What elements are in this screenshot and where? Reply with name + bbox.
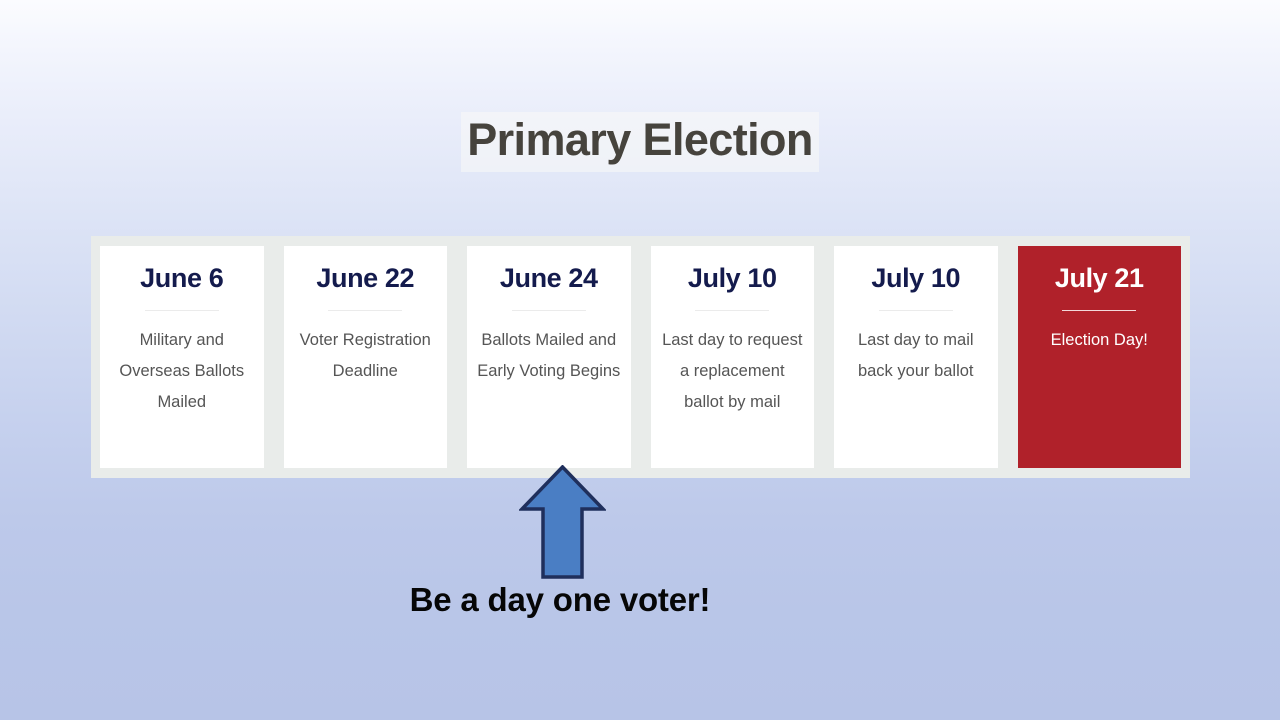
timeline-card-6-election-day[interactable]: July 21 Election Day!: [1018, 246, 1182, 468]
card-divider: [1062, 310, 1136, 311]
card-divider: [695, 310, 769, 311]
timeline-card-strip: June 6 Military and Overseas Ballots Mai…: [91, 236, 1190, 478]
timeline-card-4[interactable]: July 10 Last day to re­quest a replace­m…: [651, 246, 815, 468]
card-divider: [145, 310, 219, 311]
slide-canvas: Primary Election June 6 Military and Ove…: [0, 0, 1280, 720]
card-description: Election Day!: [1051, 325, 1148, 356]
card-divider: [879, 310, 953, 311]
card-date: June 22: [316, 264, 414, 294]
card-date: July 21: [1055, 264, 1144, 294]
timeline-card-2[interactable]: June 22 Voter Registration Deadline: [284, 246, 448, 468]
card-date: July 10: [688, 264, 777, 294]
card-description: Ballots Mailed and Early Voting Begins: [477, 325, 621, 387]
up-arrow-icon: [519, 465, 606, 580]
caption-container: Be a day one voter!: [0, 581, 1280, 619]
card-description: Last day to re­quest a replace­ment ball…: [661, 325, 805, 418]
card-date: June 6: [140, 264, 223, 294]
timeline-card-3[interactable]: June 24 Ballots Mailed and Early Voting …: [467, 246, 631, 468]
timeline-card-1[interactable]: June 6 Military and Overseas Ballots Mai…: [100, 246, 264, 468]
card-description: Voter Registration Deadline: [294, 325, 438, 387]
page-title: Primary Election: [461, 112, 819, 172]
page-title-container: Primary Election: [0, 112, 1280, 172]
card-description: Last day to mail back your ballot: [844, 325, 988, 387]
caption-text: Be a day one voter!: [410, 581, 711, 619]
timeline-card-5[interactable]: July 10 Last day to mail back your ballo…: [834, 246, 998, 468]
card-date: June 24: [500, 264, 598, 294]
card-description: Military and Overseas Ballots Mailed: [110, 325, 254, 418]
card-date: July 10: [871, 264, 960, 294]
card-divider: [512, 310, 586, 311]
card-divider: [328, 310, 402, 311]
